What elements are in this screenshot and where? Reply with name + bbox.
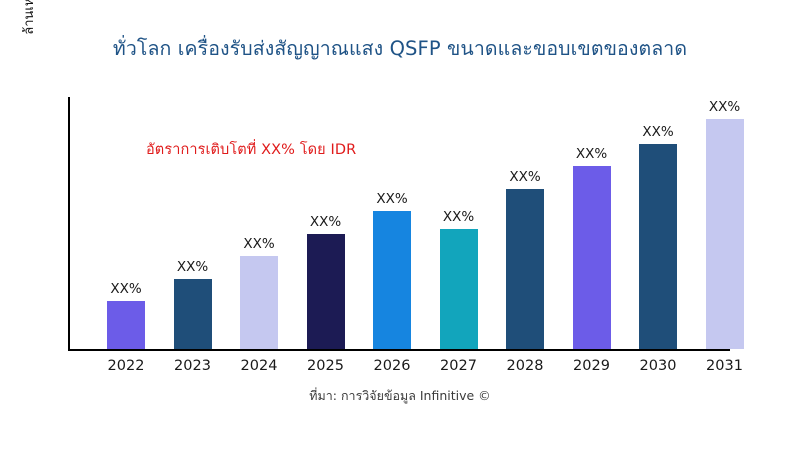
bar-value-label: XX%	[93, 281, 159, 297]
x-axis-line	[68, 349, 730, 351]
x-tick-label-2022: 2022	[93, 358, 159, 374]
bar[interactable]	[706, 119, 744, 349]
bar[interactable]	[639, 144, 677, 349]
bar-value-label: XX%	[559, 146, 625, 162]
bar-value-label: XX%	[359, 191, 425, 207]
bar-value-label: XX%	[692, 99, 758, 115]
bar[interactable]	[373, 211, 411, 349]
bar-value-label: XX%	[226, 236, 292, 252]
source-caption: ที่มา: การวิจัยข้อมูล Infinitive ©	[0, 386, 800, 406]
bar[interactable]	[240, 256, 278, 349]
x-tick-label-2025: 2025	[293, 358, 359, 374]
x-tick-label-2031: 2031	[692, 358, 758, 374]
x-tick-label-2030: 2030	[625, 358, 691, 374]
bar[interactable]	[107, 301, 145, 349]
bar[interactable]	[440, 229, 478, 349]
x-tick-label-2026: 2026	[359, 358, 425, 374]
growth-rate-annotation: อัตราการเติบโตที่ XX% โดย IDR	[146, 138, 356, 161]
bar-value-label: XX%	[492, 169, 558, 185]
plot-area: อัตราการเติบโตที่ XX% โดย IDR XX%XX%XX%X…	[68, 97, 780, 351]
bar-value-label: XX%	[293, 214, 359, 230]
x-tick-label-2027: 2027	[426, 358, 492, 374]
x-tick-label-2023: 2023	[160, 358, 226, 374]
bar[interactable]	[307, 234, 345, 349]
chart-title: ทั่วโลก เครื่องรับส่งสัญญาณแสง QSFP ขนาด…	[0, 36, 800, 62]
bar[interactable]	[506, 189, 544, 349]
bar-value-label: XX%	[426, 209, 492, 225]
x-tick-label-2024: 2024	[226, 358, 292, 374]
x-tick-label-2029: 2029	[559, 358, 625, 374]
bar[interactable]	[174, 279, 212, 349]
y-axis-title-label: ล้านเหรียญสหรัฐ	[18, 0, 39, 118]
bar-chart: ทั่วโลก เครื่องรับส่งสัญญาณแสง QSFP ขนาด…	[0, 0, 800, 450]
bar-value-label: XX%	[625, 124, 691, 140]
bar[interactable]	[573, 166, 611, 349]
bar-value-label: XX%	[160, 259, 226, 275]
y-axis-line	[68, 97, 70, 351]
x-tick-label-2028: 2028	[492, 358, 558, 374]
y-axis-title: ล้านเหรียญสหรัฐ	[18, 0, 40, 118]
